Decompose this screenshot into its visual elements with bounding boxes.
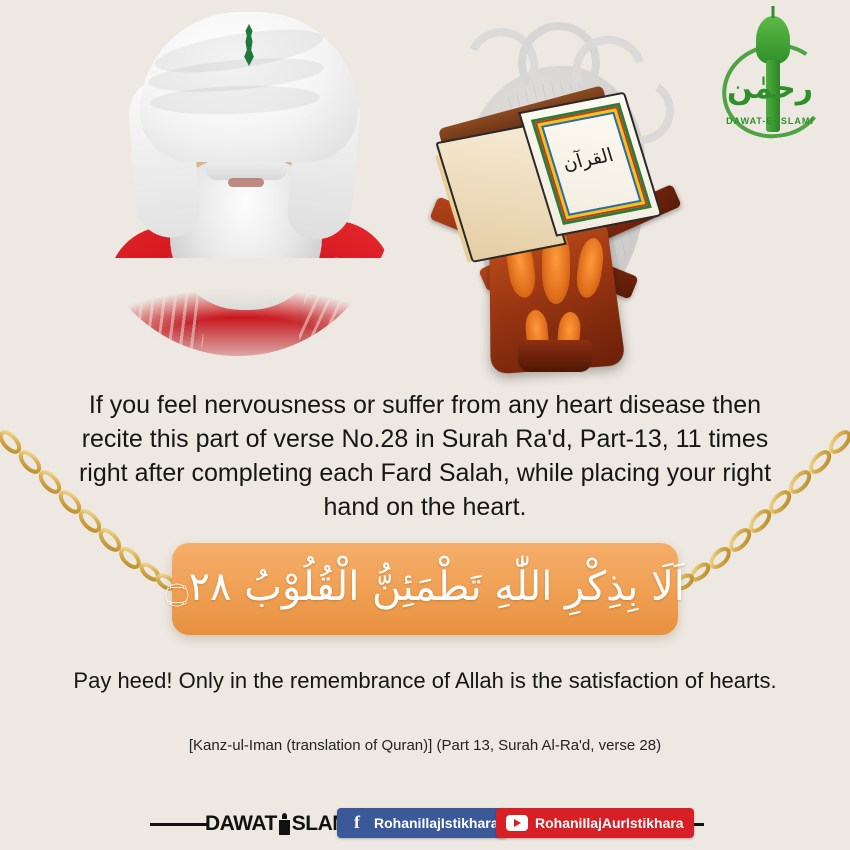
portrait-lip xyxy=(228,178,264,187)
footer-brand-logo: DAWAT SLAMI xyxy=(205,810,355,838)
logo-subtitle: DAWAT-E-ISLAMI xyxy=(708,116,832,126)
rehal-foot xyxy=(518,340,592,372)
youtube-icon xyxy=(506,815,528,831)
verse-arabic-text: اَلَا بِذِكْرِ اللّٰهِ تَطْمَئِنُّ الْقُ… xyxy=(165,562,685,616)
dawat-e-islami-logo: رحمٰن DAWAT-E-ISLAMI xyxy=(708,14,832,142)
portrait-fade-mask xyxy=(78,258,398,368)
facebook-icon: f xyxy=(347,813,367,833)
verse-citation: [Kanz-ul-Iman (translation of Quran)] (P… xyxy=(30,735,820,757)
youtube-handle-label: RohaniIlajAurIstikhara xyxy=(535,815,684,831)
facebook-handle-label: RohaniIlajIstikhara xyxy=(374,815,498,831)
footer-rule-left xyxy=(150,823,208,826)
instruction-text: If you feel nervousness or suffer from a… xyxy=(58,388,792,524)
minaret-icon xyxy=(279,813,290,835)
poster-canvas: القرآن xyxy=(0,0,850,850)
brand-prefix: DAWAT xyxy=(205,812,277,836)
facebook-handle-button[interactable]: f RohaniIlajIstikhara xyxy=(337,808,508,838)
heart-illustration: القرآن xyxy=(430,22,680,372)
youtube-handle-button[interactable]: RohaniIlajAurIstikhara xyxy=(496,808,694,838)
scholar-portrait xyxy=(78,8,398,368)
logo-calligraphy: رحمٰن xyxy=(714,66,826,112)
logo-dome-icon xyxy=(756,16,790,64)
quran-verse-banner: اَلَا بِذِكْرِ اللّٰهِ تَطْمَئِنُّ الْقُ… xyxy=(172,543,678,635)
verse-translation: Pay heed! Only in the remembrance of All… xyxy=(30,666,820,696)
artwork-zone: القرآن xyxy=(0,0,850,385)
